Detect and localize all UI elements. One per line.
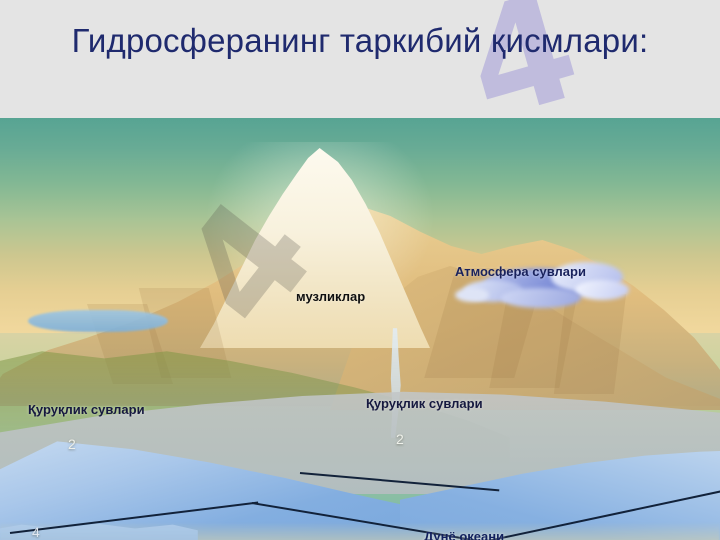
presentation-slide: 4 2 2 4 Атмосфера сувлари музликлар Қуру…: [0, 0, 720, 540]
marker-left: 2: [68, 436, 76, 452]
label-land-water-left: Қуруқлик сувлари: [28, 402, 145, 417]
mountain-lake: [28, 310, 168, 332]
label-land-water-mid: Қуруқлик сувлари: [366, 396, 483, 411]
page-title: Гидросферанинг таркибий қисмлари:: [60, 18, 660, 64]
slide-title-band: 4 Гидросферанинг таркибий қисмлари:: [0, 0, 720, 118]
label-atmosphere-water: Атмосфера сувлари: [455, 264, 586, 279]
label-glaciers: музликлар: [296, 289, 365, 304]
marker-mid: 2: [396, 431, 404, 447]
marker-under: 4: [32, 524, 40, 540]
hydrosphere-diagram: 4 2 2 4 Атмосфера сувлари музликлар Қуру…: [0, 118, 720, 540]
label-world-ocean: Дунё океани: [424, 529, 504, 540]
